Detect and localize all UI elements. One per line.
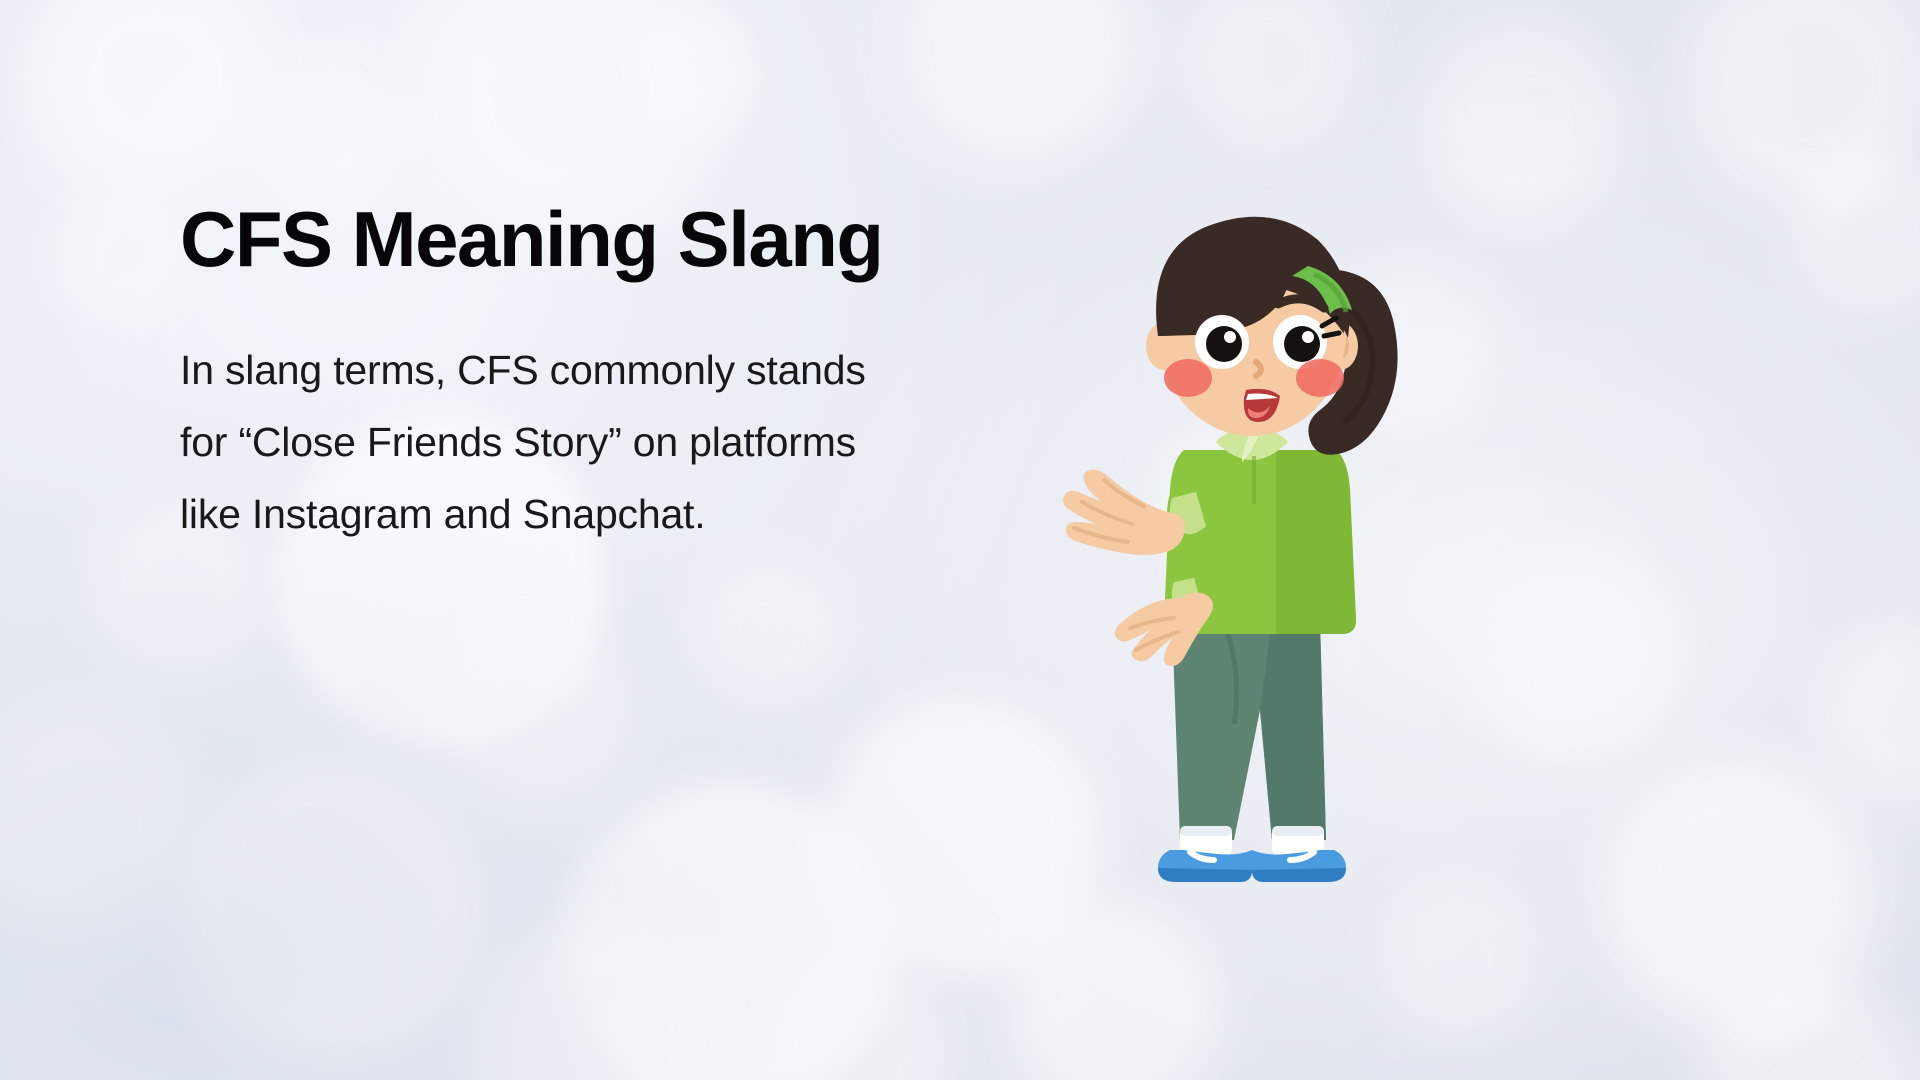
head-group (1156, 217, 1352, 436)
description-paragraph: In slang terms, CFS commonly stands for … (180, 282, 1000, 550)
text-column: CFS Meaning Slang In slang terms, CFS co… (180, 196, 1000, 550)
description-line-3: like Instagram and Snapchat. (180, 478, 1000, 550)
page-title: CFS Meaning Slang (180, 196, 1000, 282)
description-line-2: for “Close Friends Story” on platforms (180, 406, 1000, 478)
description-line-1: In slang terms, CFS commonly stands (180, 334, 1000, 406)
cartoon-girl-illustration (1020, 150, 1440, 890)
pants-group (1172, 620, 1326, 840)
banner-canvas: CFS Meaning Slang In slang terms, CFS co… (0, 0, 1920, 1080)
